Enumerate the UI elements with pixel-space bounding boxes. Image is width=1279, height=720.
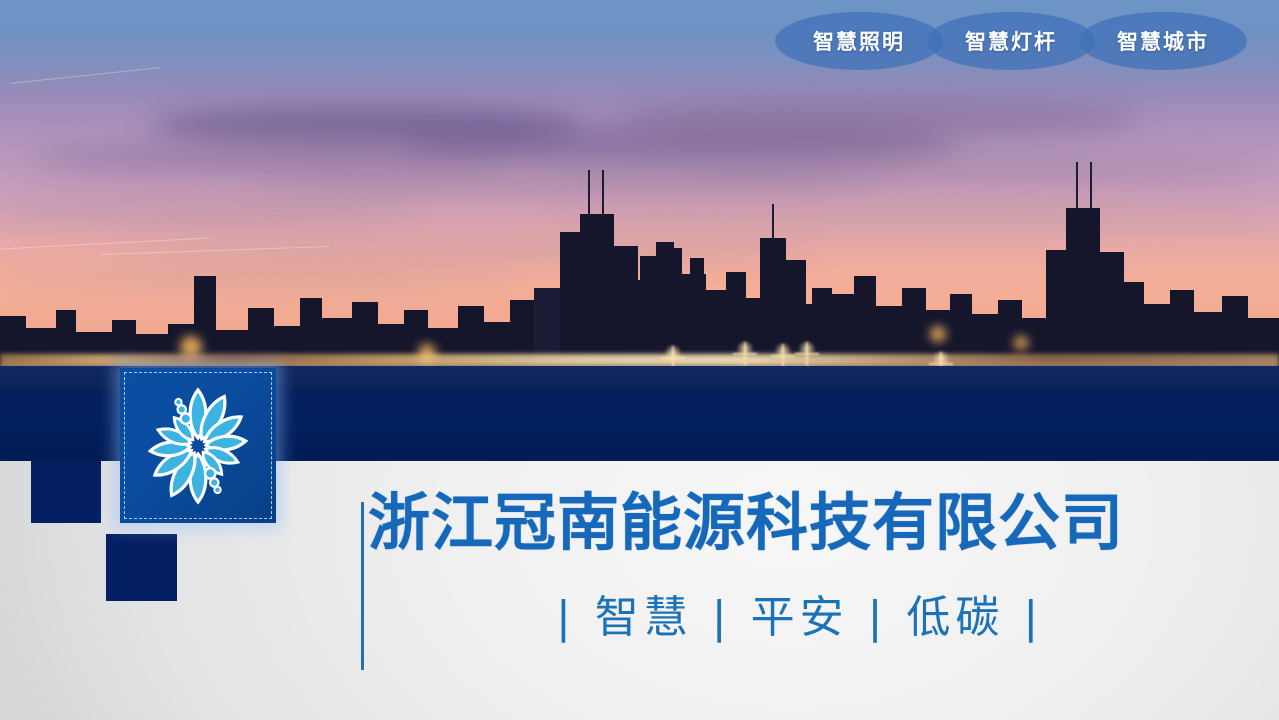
decorative-navy-square bbox=[106, 534, 177, 601]
badge-smart-lighting-label: 智慧照明 bbox=[813, 26, 905, 56]
badge-smart-lighting[interactable]: 智慧照明 bbox=[775, 12, 943, 70]
decorative-navy-tab bbox=[31, 461, 101, 523]
badge-smart-city-label: 智慧城市 bbox=[1117, 26, 1209, 56]
company-slogan: | 智慧 | 平安 | 低碳 | bbox=[556, 596, 1043, 640]
company-title: 浙江冠南能源科技有限公司 bbox=[368, 492, 1124, 554]
badge-smart-pole-label: 智慧灯杆 bbox=[965, 26, 1057, 56]
company-logo bbox=[120, 368, 276, 523]
badge-smart-pole[interactable]: 智慧灯杆 bbox=[927, 12, 1095, 70]
badge-group: 智慧照明 智慧灯杆 智慧城市 bbox=[775, 12, 1247, 70]
city-skyline bbox=[0, 130, 1279, 368]
badge-smart-city[interactable]: 智慧城市 bbox=[1079, 12, 1247, 70]
petal-mark-icon bbox=[120, 368, 276, 523]
title-slide: 智慧照明 智慧灯杆 智慧城市 bbox=[0, 0, 1279, 720]
accent-vertical-line bbox=[361, 502, 364, 670]
